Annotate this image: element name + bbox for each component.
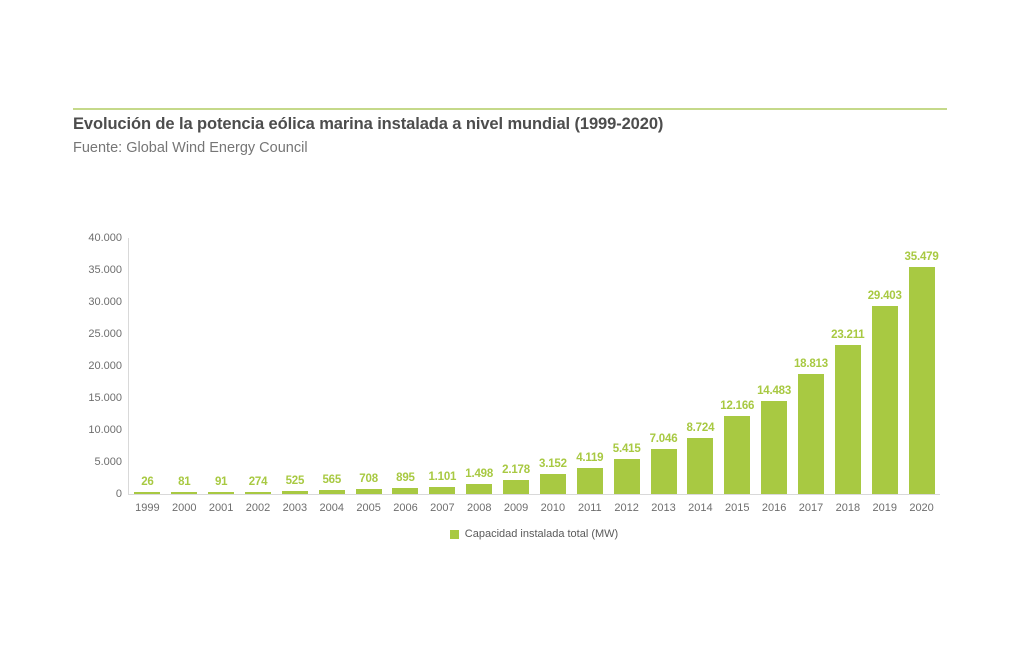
bar-value-label: 26 [141, 476, 153, 488]
x-axis-tick-label: 2004 [320, 502, 344, 514]
bar-value-label: 7.046 [650, 433, 678, 445]
bar-value-label: 1.101 [428, 471, 456, 483]
x-axis-tick-label: 2000 [172, 502, 196, 514]
x-axis-tick-label: 2010 [541, 502, 565, 514]
bar-value-label: 895 [396, 472, 415, 484]
bar-value-label: 2.178 [502, 464, 530, 476]
y-axis-tick-label: 35.000 [60, 264, 122, 276]
y-axis-tick-label: 5.000 [60, 456, 122, 468]
bar-value-label: 8.724 [686, 422, 714, 434]
bar-slot: 1.101 [424, 238, 461, 494]
x-axis-tick-label: 2016 [762, 502, 786, 514]
bar[interactable] [466, 484, 492, 494]
bar-slot: 8.724 [682, 238, 719, 494]
bar-slot: 35.479 [903, 238, 940, 494]
x-axis-tick-label: 2015 [725, 502, 749, 514]
bar[interactable] [540, 474, 566, 494]
chart-source-subtitle: Fuente: Global Wind Energy Council [73, 140, 308, 156]
bar-slot: 4.119 [571, 238, 608, 494]
bar-slot: 2.178 [498, 238, 535, 494]
bar[interactable] [761, 401, 787, 494]
x-axis-tick-label: 2018 [836, 502, 860, 514]
x-axis-tick-labels: 1999200020012002200320042005200620072008… [129, 502, 940, 518]
bar-value-label: 565 [322, 474, 341, 486]
bar[interactable] [835, 345, 861, 494]
bar-slot: 3.152 [535, 238, 572, 494]
bar[interactable] [503, 480, 529, 494]
y-axis-tick-label: 20.000 [60, 360, 122, 372]
bar[interactable] [245, 492, 271, 494]
bar[interactable] [319, 490, 345, 494]
bar-value-label: 29.403 [868, 290, 902, 302]
header-divider-rule [73, 108, 947, 110]
x-axis-line [128, 494, 940, 495]
bar-slot: 26 [129, 238, 166, 494]
bar-slot: 7.046 [645, 238, 682, 494]
bar-slot: 18.813 [793, 238, 830, 494]
y-axis-tick-label: 15.000 [60, 392, 122, 404]
bar[interactable] [798, 374, 824, 494]
x-axis-tick-label: 2011 [578, 502, 602, 514]
bar-slot: 5.415 [608, 238, 645, 494]
bar[interactable] [356, 489, 382, 494]
bar-value-label: 4.119 [576, 452, 603, 464]
bar[interactable] [171, 492, 197, 494]
x-axis-tick-label: 2017 [799, 502, 823, 514]
bar-value-label: 1.498 [465, 468, 493, 480]
bar[interactable] [909, 267, 935, 494]
x-axis-tick-label: 2013 [651, 502, 675, 514]
bar-slot: 23.211 [829, 238, 866, 494]
bar[interactable] [651, 449, 677, 494]
bar-value-label: 274 [249, 476, 268, 488]
legend-swatch-icon [450, 530, 459, 539]
page-title: Evolución de la potencia eólica marina i… [73, 115, 663, 134]
bar[interactable] [134, 492, 160, 494]
x-axis-tick-label: 2001 [209, 502, 233, 514]
bar-series: 2681912745255657088951.1011.4982.1783.15… [129, 238, 940, 494]
x-axis-tick-label: 2005 [356, 502, 380, 514]
bar-value-label: 12.166 [720, 400, 754, 412]
bar-slot: 29.403 [866, 238, 903, 494]
x-axis-tick-label: 2007 [430, 502, 454, 514]
x-axis-tick-label: 2008 [467, 502, 491, 514]
bar[interactable] [392, 488, 418, 494]
y-axis-tick-labels: 05.00010.00015.00020.00025.00030.00035.0… [60, 232, 122, 500]
x-axis-tick-label: 2002 [246, 502, 270, 514]
chart-page: Evolución de la potencia eólica marina i… [0, 0, 1020, 652]
legend-item-label: Capacidad instalada total (MW) [465, 528, 618, 540]
y-axis-tick-label: 40.000 [60, 232, 122, 244]
bar-slot: 708 [350, 238, 387, 494]
bar[interactable] [724, 416, 750, 494]
bar-value-label: 91 [215, 476, 227, 488]
x-axis-tick-label: 2012 [614, 502, 638, 514]
bar[interactable] [872, 306, 898, 494]
bar-slot: 895 [387, 238, 424, 494]
chart-legend: Capacidad instalada total (MW) [128, 528, 940, 540]
bar-slot: 12.166 [719, 238, 756, 494]
bar-slot: 1.498 [461, 238, 498, 494]
bar[interactable] [614, 459, 640, 494]
bar-value-label: 14.483 [757, 385, 791, 397]
bar-value-label: 708 [359, 473, 378, 485]
bar-value-label: 23.211 [831, 329, 864, 341]
x-axis-tick-label: 2009 [504, 502, 528, 514]
bar-slot: 525 [276, 238, 313, 494]
x-axis-tick-label: 2020 [909, 502, 933, 514]
bar-slot: 14.483 [756, 238, 793, 494]
x-axis-tick-label: 2006 [393, 502, 417, 514]
bar-value-label: 18.813 [794, 358, 828, 370]
x-axis-tick-label: 2019 [872, 502, 896, 514]
bar-value-label: 3.152 [539, 458, 567, 470]
bar-slot: 274 [240, 238, 277, 494]
bar-slot: 565 [313, 238, 350, 494]
bar[interactable] [687, 438, 713, 494]
bar[interactable] [429, 487, 455, 494]
bar[interactable] [208, 492, 234, 494]
y-axis-tick-label: 25.000 [60, 328, 122, 340]
x-axis-tick-label: 1999 [135, 502, 159, 514]
y-axis-tick-label: 10.000 [60, 424, 122, 436]
y-axis-tick-label: 0 [60, 488, 122, 500]
y-axis-tick-label: 30.000 [60, 296, 122, 308]
x-axis-tick-label: 2014 [688, 502, 712, 514]
bar-slot: 81 [166, 238, 203, 494]
bar-value-label: 5.415 [613, 443, 641, 455]
bar[interactable] [282, 491, 308, 494]
bar-value-label: 35.479 [905, 251, 939, 263]
x-axis-tick-label: 2003 [283, 502, 307, 514]
bar-value-label: 525 [286, 475, 305, 487]
bar[interactable] [577, 468, 603, 494]
bar-slot: 91 [203, 238, 240, 494]
bar-value-label: 81 [178, 476, 190, 488]
